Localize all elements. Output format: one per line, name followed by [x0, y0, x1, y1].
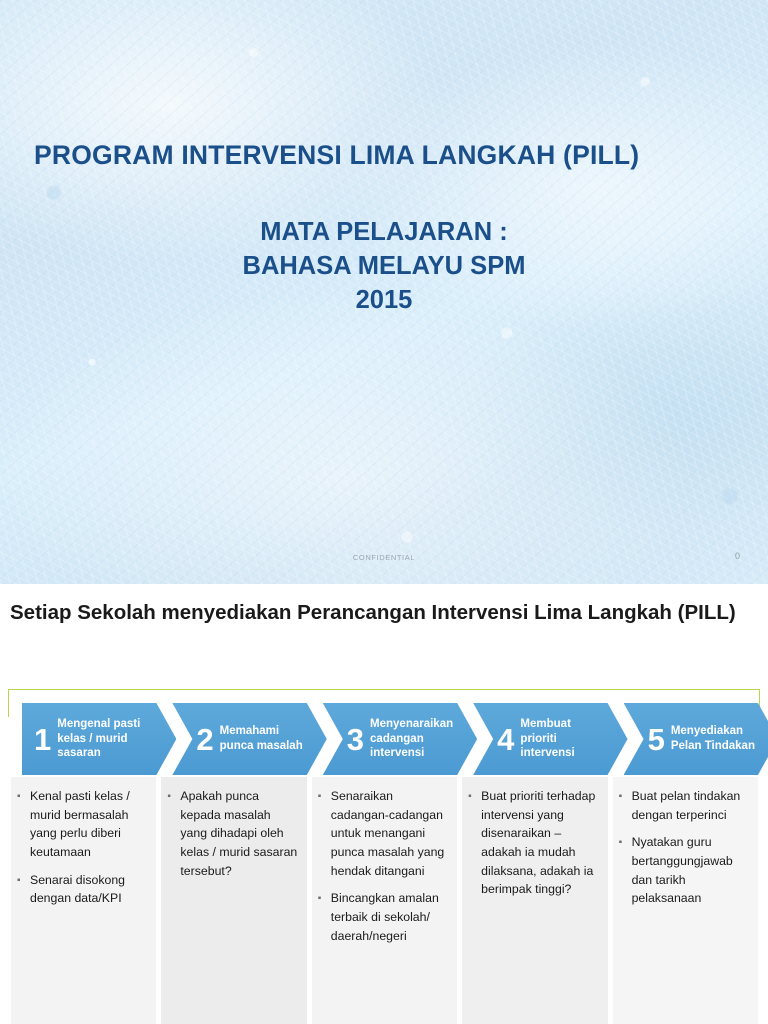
list-item: ▪ Buat prioriti terhadap intervensi yang… [468, 787, 598, 899]
step-body-2: ▪ Apakah punca kepada masalah yang dihad… [160, 777, 306, 1024]
step-label-5: Menyediakan Pelan Tindakan [671, 724, 758, 753]
bullet-icon: ▪ [468, 787, 481, 899]
step-body-3: ▪ Senaraikan cadangan-cadangan untuk men… [311, 777, 457, 1024]
chevron-wrap-3: 3 Menyenaraikan cadangan intervensi [309, 689, 459, 777]
step-number-4: 4 [497, 724, 514, 755]
step-number-2: 2 [196, 724, 213, 755]
slide-number: 0 [735, 551, 740, 561]
step-number-3: 3 [347, 724, 364, 755]
bullet-icon: ▪ [619, 787, 632, 824]
step-column-2: 2 Memahami punca masalah ▪ Apakah punca … [158, 689, 308, 1024]
list-item: ▪ Senaraikan cadangan-cadangan untuk men… [318, 787, 448, 880]
page-title: PROGRAM INTERVENSI LIMA LANGKAH (PILL) [34, 140, 734, 171]
title-subheading: MATA PELAJARAN : BAHASA MELAYU SPM 2015 [0, 216, 768, 318]
step-column-3: 3 Menyenaraikan cadangan intervensi ▪ Se… [309, 689, 459, 1024]
step-column-4: 4 Membuat prioriti intervensi ▪ Buat pri… [459, 689, 609, 1024]
step-number-1: 1 [34, 724, 51, 755]
chevron-step-1[interactable]: 1 Mengenal pasti kelas / murid sasaran [22, 703, 176, 775]
bullet-text: Bincangkan amalan terbaik di sekolah/ da… [331, 889, 448, 945]
bullet-text: Senaraikan cadangan-cadangan untuk menan… [331, 787, 448, 880]
chevron-wrap-4: 4 Membuat prioriti intervensi [459, 689, 609, 777]
step-label-3: Menyenaraikan cadangan intervensi [370, 717, 457, 761]
step-body-1: ▪ Kenal pasti kelas / murid bermasalah y… [10, 777, 156, 1024]
list-item: ▪ Nyatakan guru bertanggungjawab dan tar… [619, 833, 749, 908]
content-slide: Setiap Sekolah menyediakan Perancangan I… [0, 584, 768, 1024]
bullet-icon: ▪ [167, 787, 180, 880]
list-item: ▪ Bincangkan amalan terbaik di sekolah/ … [318, 889, 448, 945]
step-column-1: 1 Mengenal pasti kelas / murid sasaran ▪… [8, 689, 158, 1024]
chevron-wrap-2: 2 Memahami punca masalah [158, 689, 308, 777]
bullet-text: Buat prioriti terhadap intervensi yang d… [481, 787, 598, 899]
confidential-label: CONFIDENTIAL [0, 553, 768, 562]
bullet-text: Nyatakan guru bertanggungjawab dan tarik… [632, 833, 749, 908]
bullet-icon: ▪ [318, 889, 331, 945]
steps-container: 1 Mengenal pasti kelas / murid sasaran ▪… [8, 689, 760, 1024]
bullet-text: Senarai disokong dengan data/KPI [30, 871, 147, 908]
list-item: ▪ Apakah punca kepada masalah yang dihad… [167, 787, 297, 880]
step-column-5: 5 Menyediakan Pelan Tindakan ▪ Buat pela… [610, 689, 760, 1024]
bullet-icon: ▪ [17, 871, 30, 908]
title-slide: PROGRAM INTERVENSI LIMA LANGKAH (PILL) M… [0, 0, 768, 584]
bullet-text: Buat pelan tindakan dengan terperinci [632, 787, 749, 824]
chevron-wrap-5: 5 Menyediakan Pelan Tindakan [610, 689, 760, 777]
bullet-icon: ▪ [619, 833, 632, 908]
step-label-2: Memahami punca masalah [220, 724, 307, 753]
chevron-step-3[interactable]: 3 Menyenaraikan cadangan intervensi [323, 703, 477, 775]
chevron-wrap-1: 1 Mengenal pasti kelas / murid sasaran [8, 689, 158, 777]
step-label-1: Mengenal pasti kelas / murid sasaran [57, 717, 156, 761]
chevron-step-4[interactable]: 4 Membuat prioriti intervensi [473, 703, 627, 775]
bullet-icon: ▪ [318, 787, 331, 880]
bullet-text: Apakah punca kepada masalah yang dihadap… [180, 787, 297, 880]
step-body-5: ▪ Buat pelan tindakan dengan terperinci … [612, 777, 758, 1024]
chevron-step-2[interactable]: 2 Memahami punca masalah [172, 703, 326, 775]
step-number-5: 5 [648, 724, 665, 755]
step-label-4: Membuat prioriti intervensi [520, 717, 607, 761]
list-item: ▪ Kenal pasti kelas / murid bermasalah y… [17, 787, 147, 862]
list-item: ▪ Senarai disokong dengan data/KPI [17, 871, 147, 908]
step-body-4: ▪ Buat prioriti terhadap intervensi yang… [461, 777, 607, 1024]
content-heading: Setiap Sekolah menyediakan Perancangan I… [10, 598, 754, 627]
list-item: ▪ Buat pelan tindakan dengan terperinci [619, 787, 749, 824]
bullet-text: Kenal pasti kelas / murid bermasalah yan… [30, 787, 147, 862]
bullet-icon: ▪ [17, 787, 30, 862]
chevron-step-5[interactable]: 5 Menyediakan Pelan Tindakan [624, 703, 768, 775]
